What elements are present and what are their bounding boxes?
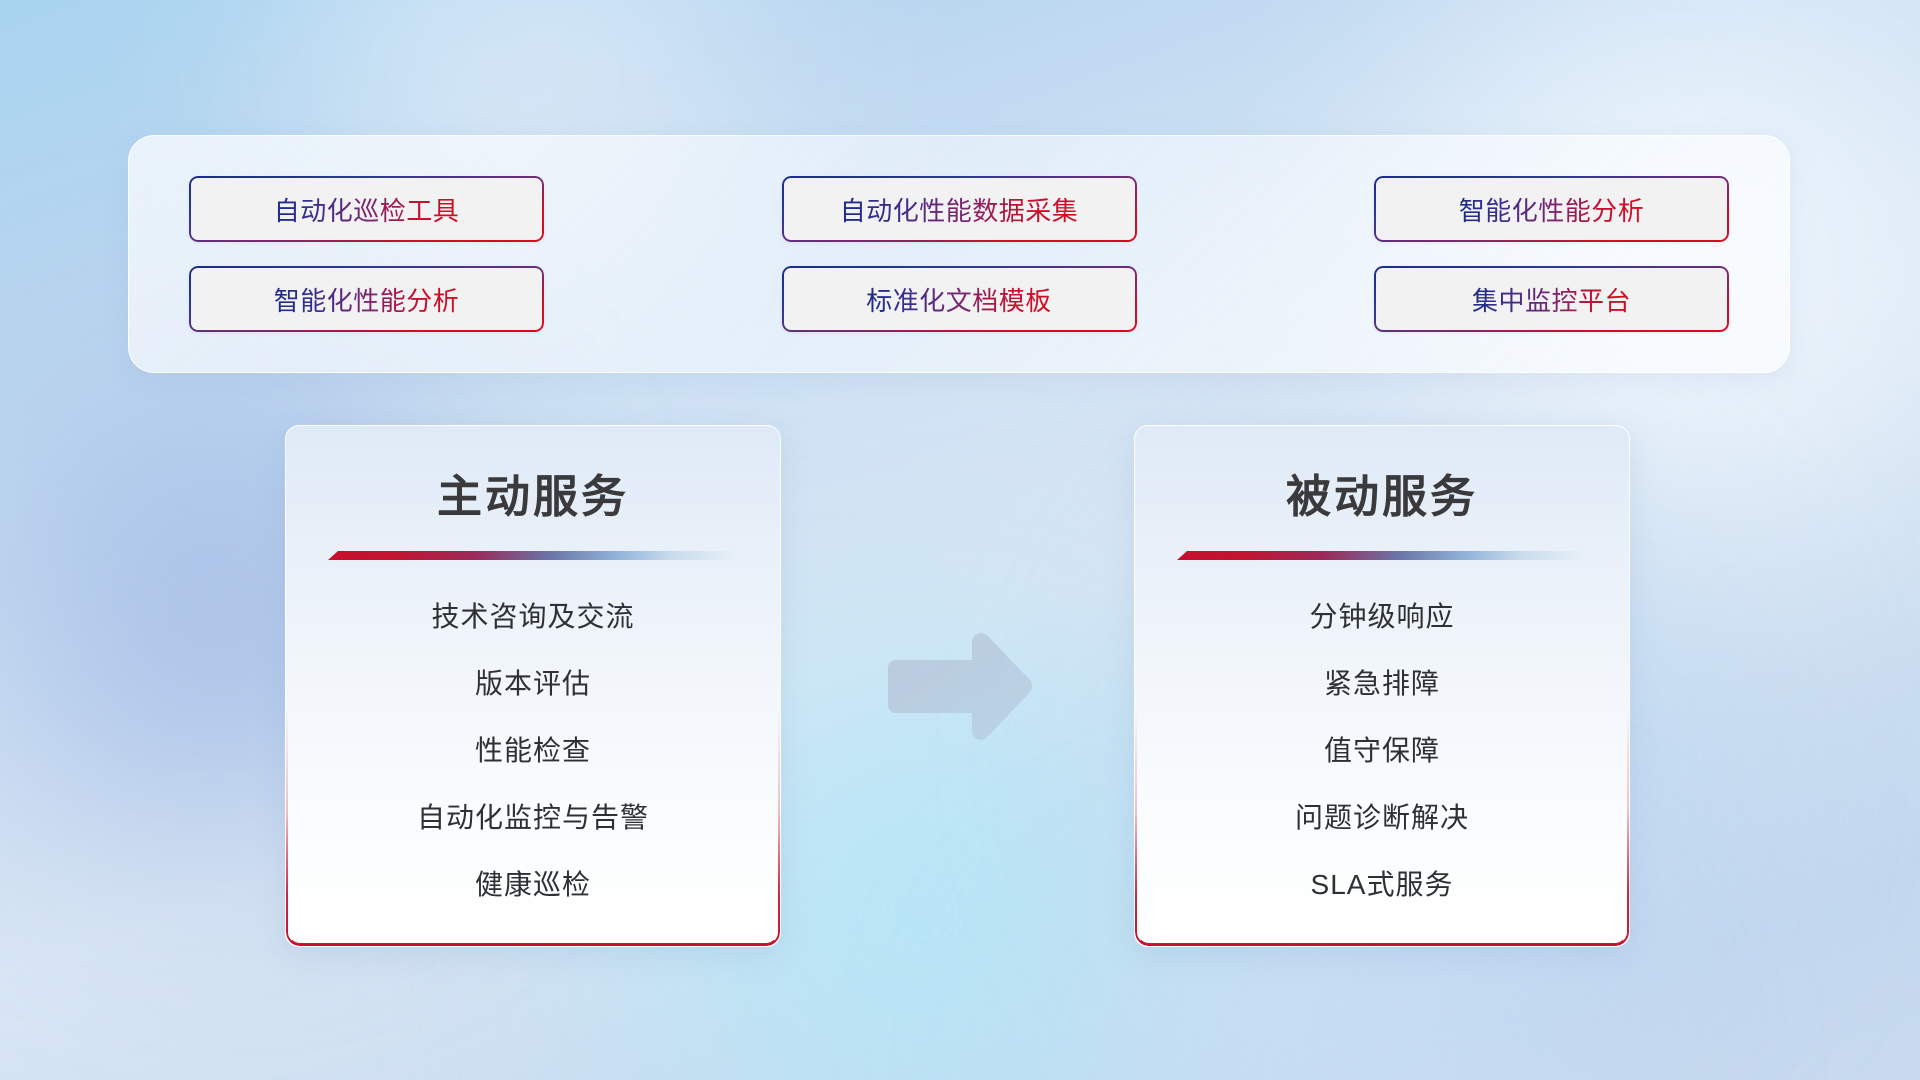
card-divider-bar [328,551,738,560]
capability-tag[interactable]: 智能化性能分析 [189,266,544,332]
arrow-right-icon [880,630,1040,748]
list-item: 自动化监控与告警 [286,782,780,849]
capability-tag-label: 智能化性能分析 [274,281,460,318]
card-item-list: 分钟级响应 紧急排障 值守保障 问题诊断解决 SLA式服务 [1135,560,1629,946]
list-item: 分钟级响应 [1135,582,1629,649]
capability-tag-label: 自动化巡检工具 [274,191,460,228]
capability-tag[interactable]: 自动化性能数据采集 [782,176,1137,242]
card-divider [1177,551,1587,560]
capability-tag-label: 自动化性能数据采集 [840,191,1079,228]
card-title: 主动服务 [286,460,780,525]
list-item: 值守保障 [1135,716,1629,783]
list-item: 紧急排障 [1135,649,1629,716]
card-title: 被动服务 [1135,460,1629,525]
capability-tag[interactable]: 智能化性能分析 [1374,176,1729,242]
capability-tag-label: 标准化文档模板 [866,281,1052,318]
list-item: 健康巡检 [286,849,780,916]
capability-tag[interactable]: 标准化文档模板 [782,266,1137,332]
list-item: 问题诊断解决 [1135,782,1629,849]
capability-tag[interactable]: 集中监控平台 [1374,266,1729,332]
list-item: 版本评估 [286,649,780,716]
capability-tag-grid: 自动化巡检工具 自动化性能数据采集 智能化性能分析 智能化性能分析 标准化文档模… [189,176,1729,332]
card-item-list: 技术咨询及交流 版本评估 性能检查 自动化监控与告警 健康巡检 [286,560,780,946]
service-card-passive: 被动服务 分钟级响应 紧急排障 值守保障 问题诊断解决 SLA式服务 [1134,425,1630,947]
capability-tag-label: 集中监控平台 [1472,281,1631,318]
list-item: 技术咨询及交流 [286,582,780,649]
capability-tag[interactable]: 自动化巡检工具 [189,176,544,242]
list-item: 性能检查 [286,716,780,783]
service-card-active: 主动服务 技术咨询及交流 版本评估 性能检查 自动化监控与告警 健康巡检 [285,425,781,947]
capability-tag-label: 智能化性能分析 [1459,191,1645,228]
card-divider-bar [1177,551,1587,560]
list-item: SLA式服务 [1135,849,1629,916]
capability-panel: 自动化巡检工具 自动化性能数据采集 智能化性能分析 智能化性能分析 标准化文档模… [128,135,1790,373]
card-divider [328,551,738,560]
